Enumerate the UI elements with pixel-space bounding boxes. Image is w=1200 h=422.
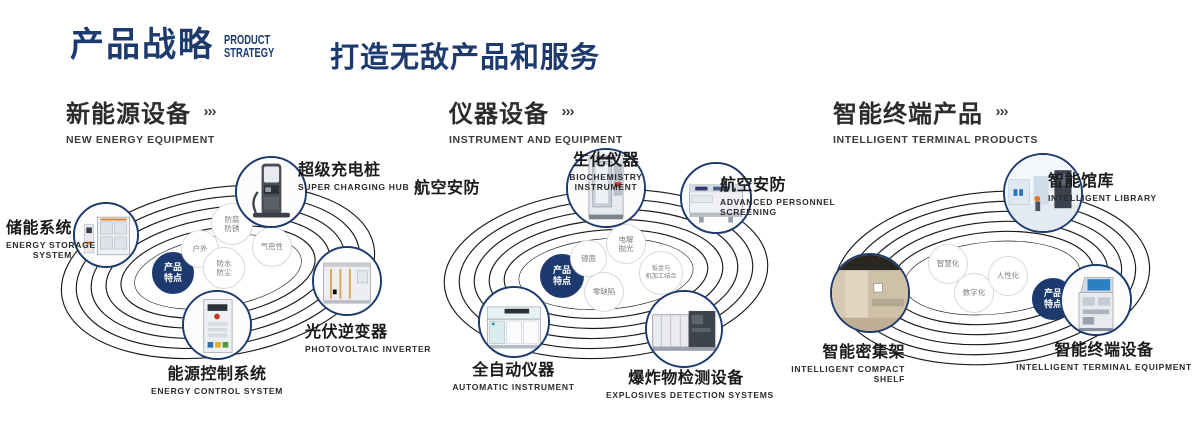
page-title: 产品战略 (70, 28, 214, 62)
self-service-kiosk-photo (1062, 266, 1130, 334)
page-title-english-line2: STRATEGY (224, 46, 318, 59)
node-label-cn: 储能系统 (6, 214, 72, 238)
label-biochemistry-instrument: 生化仪器 BIOCHEMISTRYINSTRUMENT (543, 146, 669, 192)
section-title-en: INTELLIGENT TERMINAL PRODUCTS (833, 134, 1038, 146)
compact-shelf-photo (832, 255, 908, 331)
section-title-cn: 智能终端产品 (833, 94, 983, 129)
node-intelligent-terminal-equipment[interactable] (1060, 264, 1132, 336)
section-title-en: NEW ENERGY EQUIPMENT (66, 134, 215, 146)
node-label-en: EXPLOSIVES DETECTION SYSTEMS (606, 390, 766, 400)
node-label-cn: 能源控制系统 (137, 360, 297, 384)
feature-label: 钣金与机加工结合 (646, 265, 677, 281)
poster-canvas: 产品战略 PRODUCT STRATEGY 打造无敌产品和服务 新能源设备 ››… (0, 0, 1200, 422)
section-title-en: INSTRUMENT AND EQUIPMENT (449, 134, 623, 146)
label-automatic-instrument: 全自动仪器 AUTOMATIC INSTRUMENT (436, 356, 591, 392)
node-energy-storage-system[interactable] (73, 202, 139, 268)
feature-label: 数字化 (963, 288, 986, 297)
feature-bubble-waterproof: 防水防尘 (203, 247, 245, 289)
node-label-en: BIOCHEMISTRYINSTRUMENT (543, 172, 669, 192)
node-label-en: AUTOMATIC INSTRUMENT (436, 382, 591, 392)
node-label-cn: 爆炸物检测设备 (606, 364, 766, 388)
control-cabinet-photo (184, 292, 250, 358)
node-label-cn: 全自动仪器 (436, 356, 591, 380)
feature-bubble-electropolish: 电解抛光 (606, 224, 646, 264)
label-explosives-detection-systems: 爆炸物检测设备 EXPLOSIVES DETECTION SYSTEMS (606, 364, 766, 400)
feature-bubble-humanized: 人性化 (988, 256, 1028, 296)
node-automatic-instrument[interactable] (478, 286, 550, 358)
battery-cabinet-photo (75, 204, 137, 266)
charging-pile-photo (237, 158, 305, 226)
feature-label: 防腐防锈 (225, 215, 240, 234)
node-super-charging-hub[interactable] (235, 156, 307, 228)
feature-core-line1: 产品 (164, 262, 182, 272)
feature-label: 智慧化 (937, 259, 960, 268)
node-label-en: INTELLIGENT COMPACTSHELF (745, 364, 905, 384)
cluster-intelligent-terminal: 智慧化 数字化 人性化 产品 特点 (820, 170, 1170, 385)
explosives-detector-photo (647, 292, 721, 366)
node-label-en: INTELLIGENT LIBRARY (1048, 193, 1200, 203)
cluster-new-energy: 产品 特点 户外 防腐防锈 防水防尘 气密性 (50, 168, 400, 378)
label-energy-storage-system: 储能系统 ENERGY STORAGESYSTEM (6, 214, 72, 260)
section-title-intelligent: 智能终端产品 ››› INTELLIGENT TERMINAL PRODUCTS (833, 94, 1038, 146)
node-label-cn: 智能馆库 (1048, 167, 1200, 191)
feature-label: 气密性 (261, 242, 284, 251)
feature-bubble-zero-defect: 零缺陷 (584, 272, 624, 312)
section-title-cn: 仪器设备 (449, 94, 549, 129)
poster-header: 产品战略 PRODUCT STRATEGY (70, 28, 354, 62)
chevron-right-icon: ››› (203, 103, 215, 120)
label-aviation-security-left: 航空安防 (390, 174, 480, 198)
node-energy-control-system[interactable] (182, 290, 252, 360)
feature-core-line1: 产品 (553, 265, 571, 275)
page-title-english: PRODUCT STRATEGY (224, 33, 318, 60)
section-title-new-energy: 新能源设备 ››› NEW ENERGY EQUIPMENT (66, 94, 215, 146)
node-label-cn: 航空安防 (390, 174, 480, 198)
node-label-cn: 智能密集架 (745, 338, 905, 362)
feature-core-line2: 特点 (164, 273, 182, 283)
label-energy-control-system: 能源控制系统 ENERGY CONTROL SYSTEM (137, 360, 297, 396)
feature-label: 镜面 (581, 254, 596, 263)
label-intelligent-library: 智能馆库 INTELLIGENT LIBRARY (1048, 167, 1200, 203)
chevron-right-icon: ››› (995, 103, 1007, 120)
label-intelligent-terminal-equipment: 智能终端设备 INTELLIGENT TERMINAL EQUIPMENT (1014, 336, 1194, 372)
section-title-instrument: 仪器设备 ››› INSTRUMENT AND EQUIPMENT (449, 94, 623, 146)
node-intelligent-compact-shelf[interactable] (830, 253, 910, 333)
chevron-right-icon: ››› (561, 103, 573, 120)
node-label-cn: 生化仪器 (543, 146, 669, 170)
node-photovoltaic-inverter[interactable] (312, 246, 382, 316)
feature-label: 户外 (193, 244, 208, 253)
feature-bubble-sheetmetal: 钣金与机加工结合 (639, 251, 683, 295)
section-title-cn: 新能源设备 (66, 94, 191, 129)
feature-label: 人性化 (997, 271, 1020, 280)
node-label-en: INTELLIGENT TERMINAL EQUIPMENT (1014, 362, 1194, 372)
node-label-en: ENERGY CONTROL SYSTEM (137, 386, 297, 396)
feature-label: 防水防尘 (217, 259, 232, 278)
feature-label: 电解抛光 (619, 235, 634, 254)
page-title-english-line1: PRODUCT (224, 33, 318, 46)
pv-inverter-photo (314, 248, 380, 314)
node-explosives-detection-systems[interactable] (645, 290, 723, 368)
node-label-cn: 智能终端设备 (1014, 336, 1194, 360)
automatic-instrument-photo (480, 288, 548, 356)
feature-label: 零缺陷 (593, 287, 616, 296)
cluster-instrument: 产品 特点 镜面 电解抛光 零缺陷 钣金与机加工结合 航空安防 (430, 168, 790, 383)
page-subtitle: 打造无敌产品和服务 (330, 34, 600, 76)
feature-bubble-airtight: 气密性 (252, 227, 292, 267)
label-intelligent-compact-shelf: 智能密集架 INTELLIGENT COMPACTSHELF (745, 338, 905, 384)
node-label-en: ENERGY STORAGESYSTEM (6, 240, 72, 260)
feature-core-line2: 特点 (553, 276, 571, 286)
